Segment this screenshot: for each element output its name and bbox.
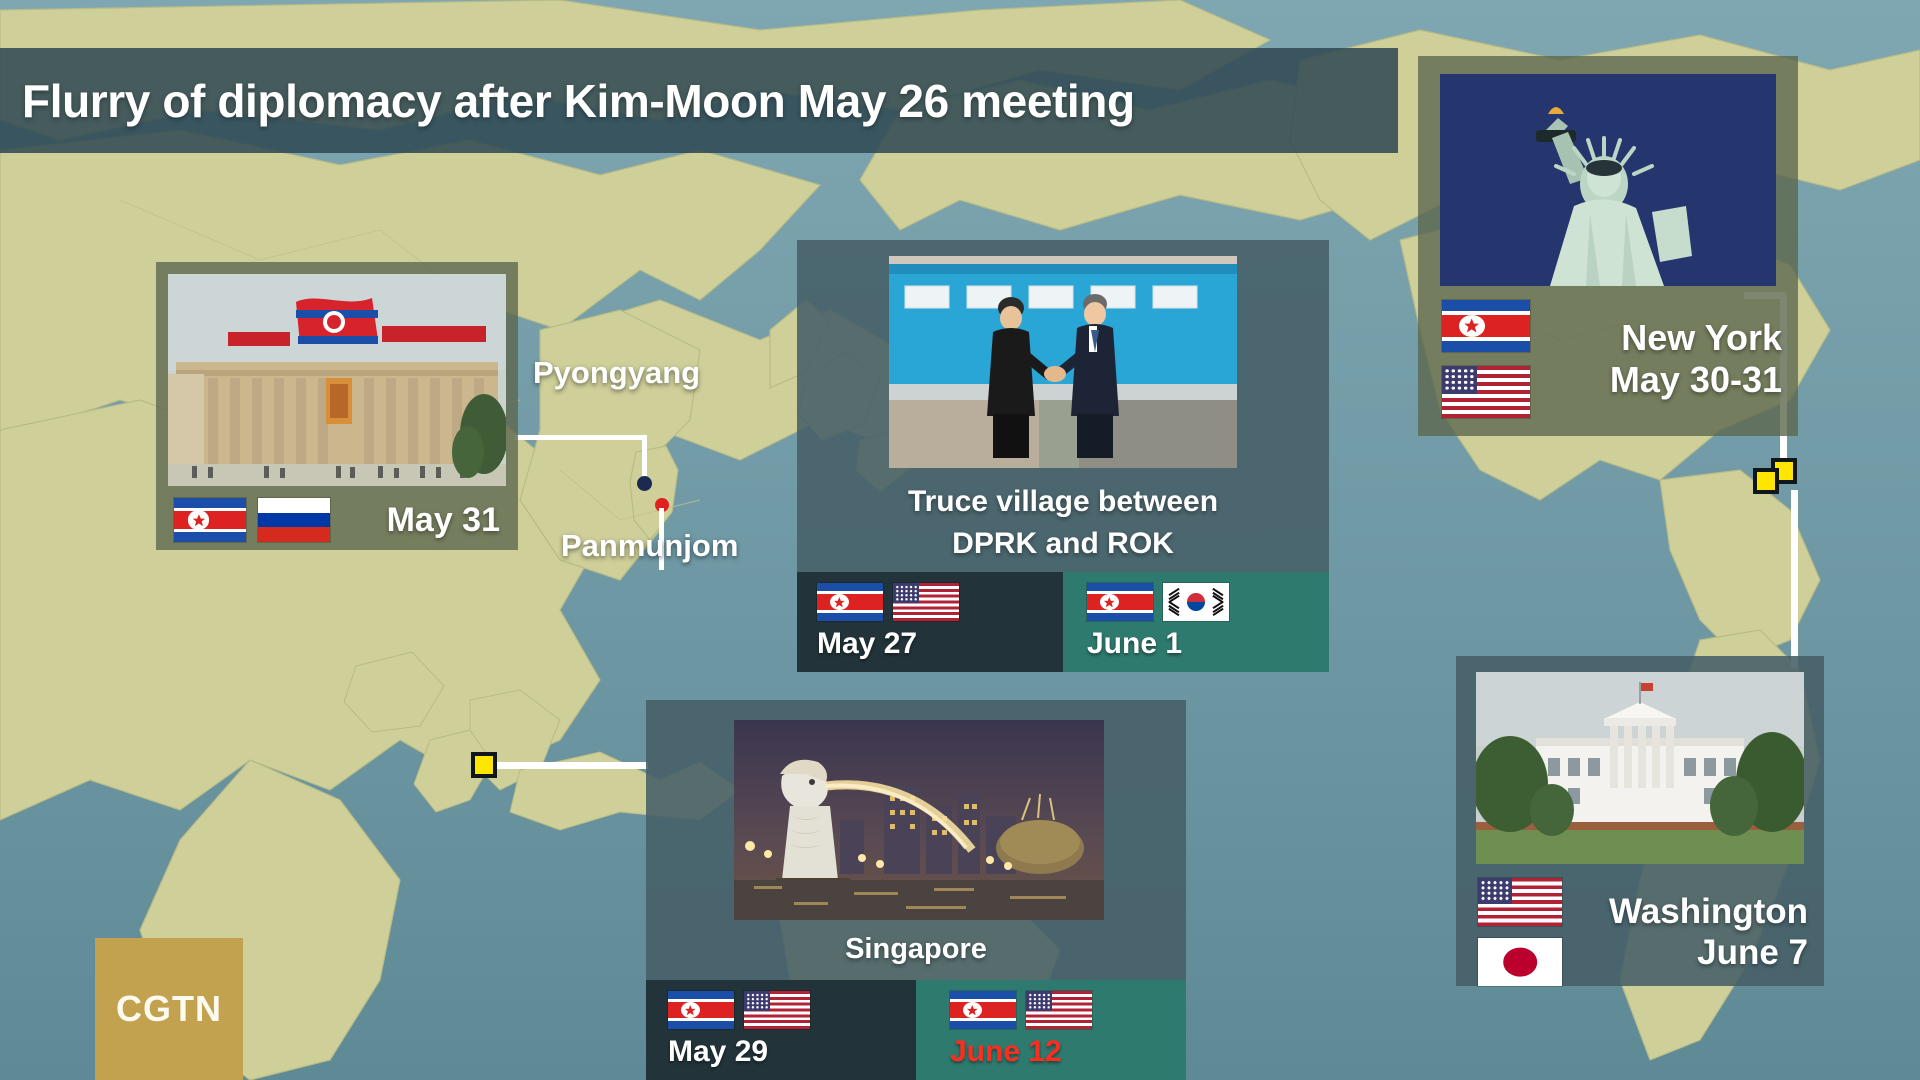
washington-date: June 7 [1582, 932, 1808, 973]
infographic-canvas: Flurry of diplomacy after Kim-Moon May 2… [0, 0, 1920, 1080]
singapore-meeting-0-date: May 29 [668, 1035, 916, 1069]
photo-statue-of-liberty [1440, 74, 1776, 286]
new-york-date: May 30-31 [1558, 359, 1782, 401]
cgtn-logo: CGTN [95, 938, 243, 1080]
flag-dprk-icon [668, 991, 734, 1029]
flag-dprk-icon [950, 991, 1016, 1029]
map-label-pyongyang: Pyongyang [533, 355, 700, 391]
flag-usa-icon [1478, 878, 1562, 926]
card-panmunjom[interactable]: Truce village between DPRK and ROK May 2… [797, 240, 1329, 672]
singapore-connector-line [480, 762, 648, 769]
washington-connector-vertical [1791, 490, 1798, 668]
flag-japan-icon [1478, 938, 1562, 986]
pyongyang-footer: May 31 [174, 498, 500, 542]
page-title: Flurry of diplomacy after Kim-Moon May 2… [0, 74, 1135, 128]
card-pyongyang[interactable]: May 31 [156, 262, 518, 550]
card-washington[interactable]: Washington June 7 [1456, 656, 1824, 986]
washington-footer: Washington June 7 [1478, 878, 1808, 986]
flag-dprk-icon [1442, 300, 1530, 352]
card-new-york[interactable]: New York May 30-31 [1418, 56, 1798, 436]
singapore-meeting-1-flags [950, 991, 1186, 1029]
panmunjom-caption-line1: Truce village between [797, 484, 1329, 519]
singapore-meeting-1-date: June 12 [950, 1035, 1186, 1069]
singapore-meeting-0[interactable]: May 29 [646, 980, 916, 1080]
panmunjom-meeting-0-flags [817, 583, 1063, 621]
singapore-meeting-0-flags [668, 991, 916, 1029]
card-singapore[interactable]: Singapore May 29 [646, 700, 1186, 1080]
pyongyang-leader-vertical [642, 435, 647, 477]
singapore-meeting-1[interactable]: June 12 [916, 980, 1186, 1080]
panmunjom-meeting-1-date: June 1 [1087, 627, 1329, 661]
panmunjom-meeting-0[interactable]: May 27 [797, 572, 1063, 672]
panmunjom-meeting-1-flags [1087, 583, 1329, 621]
photo-singapore-merlion [734, 720, 1104, 920]
flag-usa-icon [893, 583, 959, 621]
new-york-city: New York [1558, 317, 1782, 359]
map-label-panmunjom: Panmunjom [561, 528, 738, 564]
flag-dprk-icon [817, 583, 883, 621]
panmunjom-caption-line2: DPRK and ROK [797, 526, 1329, 561]
washington-text: Washington June 7 [1582, 891, 1808, 974]
title-bar: Flurry of diplomacy after Kim-Moon May 2… [0, 48, 1398, 153]
singapore-marker [471, 752, 497, 778]
pyongyang-leader-horizontal [515, 435, 647, 440]
flag-rok-icon [1163, 583, 1229, 621]
photo-pyongyang [168, 274, 506, 486]
new-york-footer: New York May 30-31 [1442, 300, 1782, 418]
flag-usa-icon [1026, 991, 1092, 1029]
new-york-flags [1442, 300, 1530, 418]
washington-flags [1478, 878, 1562, 986]
flag-usa-icon [744, 991, 810, 1029]
new-york-text: New York May 30-31 [1558, 317, 1782, 402]
washington-marker [1753, 468, 1779, 494]
photo-panmunjom-handshake [889, 256, 1237, 468]
cgtn-logo-text: CGTN [116, 988, 222, 1030]
flag-dprk-icon [1087, 583, 1153, 621]
singapore-caption: Singapore [646, 932, 1186, 966]
pyongyang-dot [637, 476, 652, 491]
pyongyang-date: May 31 [387, 500, 500, 540]
panmunjom-meeting-1[interactable]: June 1 [1063, 572, 1329, 672]
flag-usa-icon [1442, 366, 1530, 418]
flag-dprk-icon [174, 498, 246, 542]
flag-russia-icon [258, 498, 330, 542]
washington-city: Washington [1582, 891, 1808, 932]
photo-white-house [1476, 672, 1804, 864]
panmunjom-meeting-0-date: May 27 [817, 627, 1063, 661]
